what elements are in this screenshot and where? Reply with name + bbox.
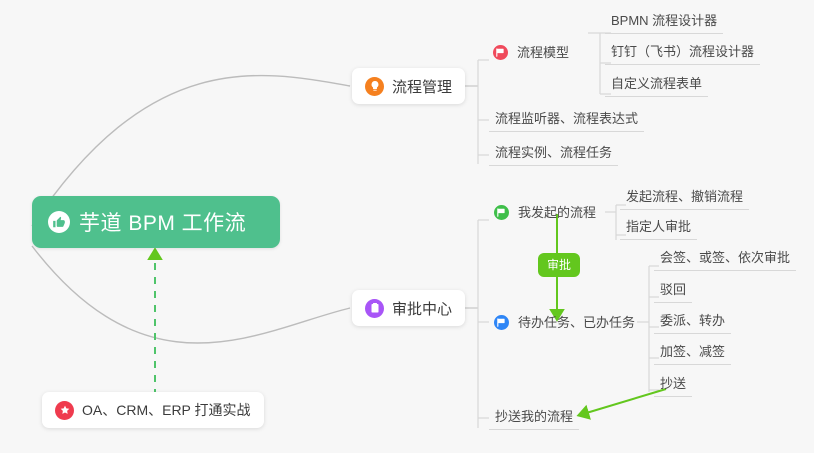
node-label: 流程模型: [517, 45, 569, 60]
root-label: 芋道 BPM 工作流: [79, 207, 246, 237]
node-label: 我发起的流程: [518, 205, 596, 220]
leaf-start-cancel-process[interactable]: 发起流程、撤销流程: [620, 188, 749, 210]
leaf-reject[interactable]: 驳回: [654, 281, 692, 303]
clipboard-icon: [365, 299, 384, 318]
node-todo-done-tasks[interactable]: 待办任务、已办任务: [494, 314, 641, 335]
leaf-cc[interactable]: 抄送: [654, 375, 692, 397]
leaf-delegate-transfer[interactable]: 委派、转办: [654, 312, 731, 334]
leaf-listener-expression[interactable]: 流程监听器、流程表达式: [489, 110, 644, 132]
connector-root-to-approval-center: [32, 246, 350, 343]
lightbulb-icon: [365, 77, 384, 96]
leaf-cc-to-me-process[interactable]: 抄送我的流程: [489, 408, 579, 430]
leaf-assignee-approval[interactable]: 指定人审批: [620, 218, 697, 240]
leaf-custom-form[interactable]: 自定义流程表单: [605, 75, 708, 97]
thumbs-up-icon: [48, 211, 70, 233]
leaf-add-remove-sign[interactable]: 加签、减签: [654, 343, 731, 365]
node-label: 流程管理: [392, 76, 452, 97]
node-approval-center[interactable]: 审批中心: [352, 290, 465, 326]
node-process-model[interactable]: 流程模型: [493, 44, 575, 65]
root-node[interactable]: 芋道 BPM 工作流: [32, 196, 280, 248]
node-my-started-process[interactable]: 我发起的流程: [494, 204, 602, 225]
node-label: 待办任务、已办任务: [518, 315, 635, 330]
node-label: 审批中心: [392, 298, 452, 319]
leaf-dingtalk-designer[interactable]: 钉钉（飞书）流程设计器: [605, 43, 760, 65]
leaf-instance-task[interactable]: 流程实例、流程任务: [489, 144, 618, 166]
node-process-management[interactable]: 流程管理: [352, 68, 465, 104]
node-label: OA、CRM、ERP 打通实战: [82, 400, 251, 420]
star-icon: [55, 401, 74, 420]
approval-badge[interactable]: 审批: [538, 253, 580, 277]
node-integration-practice[interactable]: OA、CRM、ERP 打通实战: [42, 392, 264, 428]
leaf-countersign[interactable]: 会签、或签、依次审批: [654, 249, 796, 271]
leaf-bpmn-designer[interactable]: BPMN 流程设计器: [605, 12, 723, 34]
mindmap-canvas: 芋道 BPM 工作流 流程管理 流程模型 BPMN 流程设计器 钉钉（飞书）流程…: [0, 0, 814, 453]
